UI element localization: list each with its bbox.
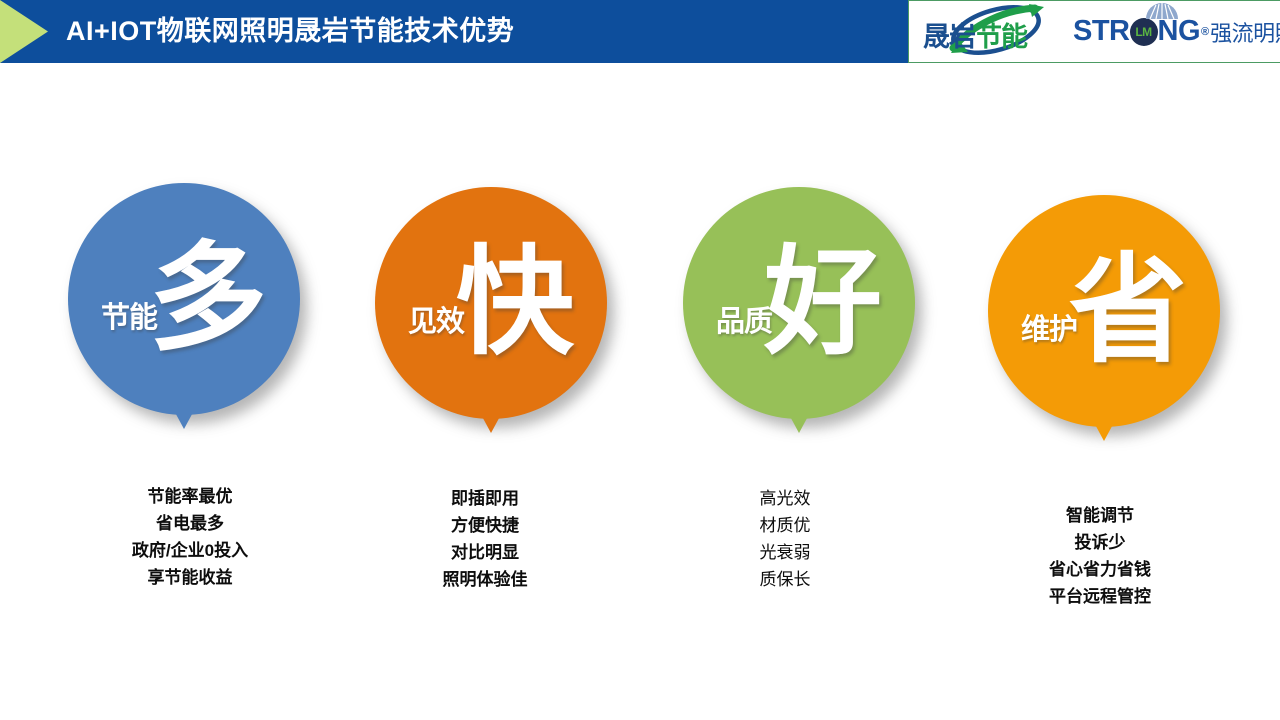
brand-text-part2: NG	[1158, 15, 1201, 48]
caption-line: 政府/企业0投入	[100, 537, 280, 564]
logo-chinese-wordmark: 晟岩节能	[921, 4, 1071, 59]
page-header: AI+IOT物联网照明晟岩节能技术优势 晟岩节能 STR LM NG ®	[0, 0, 1280, 63]
fan-arc-icon	[1145, 3, 1179, 19]
caption-line: 平台远程管控	[1000, 583, 1200, 610]
caption-column-3: 高光效 材质优 光衰弱 质保长	[700, 485, 870, 593]
bubble-1: 节能 多	[68, 183, 300, 415]
caption-column-1: 节能率最优 省电最多 政府/企业0投入 享节能收益	[100, 483, 280, 591]
caption-line: 投诉少	[1000, 529, 1200, 556]
caption-line: 材质优	[700, 512, 870, 539]
bubble-4-big-label: 省	[1069, 252, 1187, 370]
caption-line: 光衰弱	[700, 539, 870, 566]
bubble-2-labels: 见效 快	[375, 187, 607, 419]
bubble-2-big-label: 快	[456, 244, 574, 362]
caption-column-2: 即插即用 方便快捷 对比明显 照明体验佳	[395, 485, 575, 593]
caption-line: 省电最多	[100, 510, 280, 537]
logo-brand-lockup: STR LM NG ® 强流明照明	[1073, 4, 1280, 59]
bubble-3-big-label: 好	[764, 244, 882, 362]
strong-wordmark: STR LM NG ®	[1073, 15, 1209, 48]
caption-column-4: 智能调节 投诉少 省心省力省钱 平台远程管控	[1000, 502, 1200, 610]
bubble-4-labels: 维护 省	[988, 195, 1220, 427]
caption-row: 节能率最优 省电最多 政府/企业0投入 享节能收益 即插即用 方便快捷 对比明显…	[0, 470, 1280, 640]
company-logo: 晟岩节能 STR LM NG ® 强流明照明	[908, 0, 1280, 63]
caption-line: 质保长	[700, 566, 870, 593]
caption-line: 享节能收益	[100, 564, 280, 591]
page-title: AI+IOT物联网照明晟岩节能技术优势	[66, 0, 514, 63]
caption-line: 照明体验佳	[395, 566, 575, 593]
caption-line: 对比明显	[395, 539, 575, 566]
lm-circle-icon: LM	[1130, 18, 1158, 46]
brand-text-part1: STR	[1073, 15, 1130, 48]
bubble-3-labels: 品质 好	[683, 187, 915, 419]
logo-name-green: 节能	[975, 22, 1027, 52]
caption-line: 高光效	[700, 485, 870, 512]
caption-line: 方便快捷	[395, 512, 575, 539]
registered-mark: ®	[1201, 26, 1209, 38]
bubble-1-big-label: 多	[149, 240, 267, 358]
bubble-4: 维护 省	[988, 195, 1220, 427]
caption-line: 即插即用	[395, 485, 575, 512]
lm-circle-label: LM	[1130, 18, 1158, 46]
caption-line: 省心省力省钱	[1000, 556, 1200, 583]
caption-line: 智能调节	[1000, 502, 1200, 529]
bubble-3: 品质 好	[683, 187, 915, 419]
bubble-row: 节能 多 见效 快 品质 好 维护 省	[0, 175, 1280, 445]
logo-wordmark-text: 晟岩节能	[923, 15, 1027, 54]
bubble-2: 见效 快	[375, 187, 607, 419]
caption-line: 节能率最优	[100, 483, 280, 510]
logo-name-dark: 晟岩	[923, 22, 975, 52]
bubble-1-labels: 节能 多	[68, 183, 300, 415]
brand-chinese-name: 强流明照明	[1210, 16, 1280, 48]
